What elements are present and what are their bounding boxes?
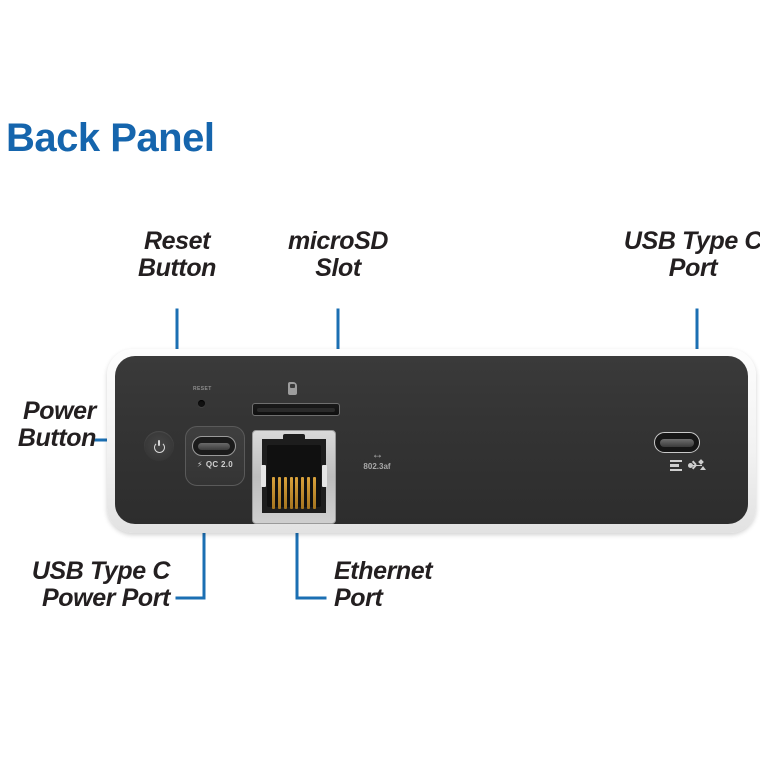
microsd-slot[interactable] bbox=[252, 403, 340, 416]
callout-power-button: Power Button bbox=[0, 398, 96, 452]
rj45-clip-notch bbox=[283, 434, 305, 442]
usb-type-c-power-port[interactable]: ⚡ QC 2.0 bbox=[185, 426, 245, 486]
poe-standard-label: 802.3af bbox=[351, 462, 403, 471]
usb-type-c-port[interactable] bbox=[654, 432, 700, 453]
callout-reset-button: Reset Button bbox=[114, 228, 240, 282]
ethernet-port[interactable] bbox=[252, 430, 336, 524]
microsd-card-icon bbox=[288, 382, 297, 395]
callout-usb-type-c-power-port: USB Type C Power Port bbox=[10, 558, 170, 612]
rj45-jack bbox=[262, 439, 326, 513]
usb-c-port-markings bbox=[670, 460, 704, 471]
quick-charge-label: QC 2.0 bbox=[206, 460, 233, 469]
page-title: Back Panel bbox=[6, 116, 214, 161]
rj45-right-clip bbox=[322, 465, 327, 487]
usb-trident-icon bbox=[688, 460, 704, 471]
callout-ethernet-port: Ethernet Port bbox=[334, 558, 504, 612]
reset-button-pinhole[interactable] bbox=[198, 400, 205, 407]
usb-c-connector-shell bbox=[192, 436, 236, 456]
rj45-left-clip bbox=[261, 465, 266, 487]
rj45-gold-pins bbox=[272, 477, 316, 509]
bidirectional-arrow-icon: ↔ bbox=[351, 448, 403, 460]
device-body: RESET ⚡ QC 2.0 bbox=[107, 349, 756, 533]
device-face-panel: RESET ⚡ QC 2.0 bbox=[115, 356, 748, 524]
poe-marking: ↔ 802.3af bbox=[351, 448, 403, 471]
usb-c-tongue bbox=[660, 439, 694, 447]
callout-usb-type-c-port: USB Type C Port bbox=[620, 228, 760, 282]
lightning-bolt-icon: ⚡ bbox=[197, 461, 203, 469]
displayport-icon bbox=[670, 460, 682, 471]
reset-marking-label: RESET bbox=[193, 386, 212, 392]
callout-microsd-slot: microSD Slot bbox=[272, 228, 404, 282]
usb-c-power-markings: ⚡ QC 2.0 bbox=[186, 460, 244, 469]
power-icon bbox=[154, 441, 165, 452]
usb-c-tongue bbox=[198, 443, 230, 450]
power-button[interactable] bbox=[144, 431, 174, 461]
